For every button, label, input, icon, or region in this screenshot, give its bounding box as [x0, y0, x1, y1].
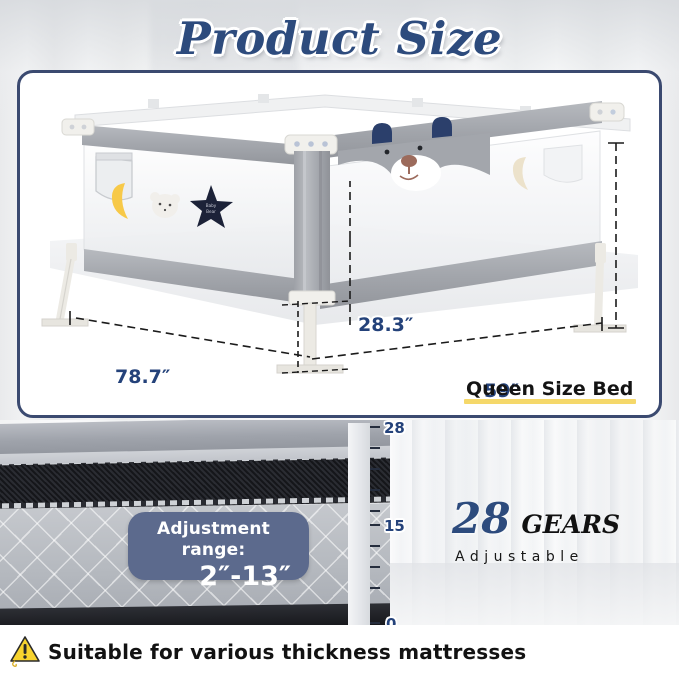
warning-triangle-icon: [8, 633, 42, 671]
bottom-caption-bar: Suitable for various thickness mattresse…: [0, 625, 679, 679]
gears-number: 28: [452, 498, 510, 540]
gears-callout: 28 GEARS Adjustable: [452, 498, 620, 565]
photo-floor: [380, 563, 679, 625]
gears-word: GEARS: [521, 504, 620, 546]
ruler-plate: [348, 423, 370, 628]
page-title: Product Size: [0, 12, 679, 65]
ruler-label-28: 28: [384, 419, 405, 437]
dimension-label-length: 78.7″: [115, 366, 170, 388]
svg-text:Baby: Baby: [206, 203, 217, 208]
measurement-ruler: 28 15 0: [348, 423, 404, 628]
corner-connector-right: [590, 103, 624, 121]
bed-rail-illustration: Baby Bear: [20, 73, 659, 415]
product-diagram-stage: Baby Bear: [20, 73, 659, 415]
bed-size-label: Queen Size Bed: [466, 378, 633, 402]
svg-text:Bear: Bear: [206, 209, 216, 214]
corner-connector-left: [62, 119, 94, 135]
gears-subtitle: Adjustable: [455, 549, 620, 565]
gears-headline: 28 GEARS: [452, 498, 620, 546]
product-diagram-frame: Baby Bear: [17, 70, 662, 418]
dimension-line-width: [312, 323, 602, 359]
dimension-line-length: [76, 318, 310, 357]
adjustment-range-title: Adjustment range:: [128, 519, 299, 561]
ruler-label-15: 15: [384, 517, 405, 535]
caption-text: Suitable for various thickness mattresse…: [48, 640, 526, 664]
dimension-label-height: 28.3″: [358, 314, 413, 336]
product-size-infographic: Product Size: [0, 0, 679, 679]
adjustment-range-badge: Adjustment range: 2″-13″: [128, 512, 309, 580]
adjustment-range-value: 2″-13″: [128, 561, 299, 593]
